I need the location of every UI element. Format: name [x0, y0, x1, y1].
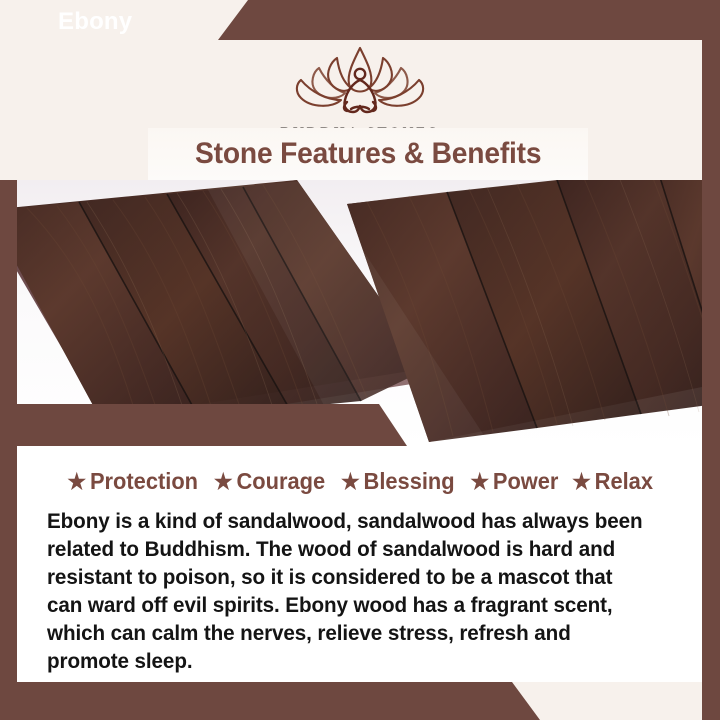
product-description: Ebony is a kind of sandalwood, sandalwoo… [47, 507, 652, 675]
feature-label: Blessing [364, 468, 455, 495]
lotus-meditation-figure-icon [285, 40, 435, 124]
star-icon: ★ [214, 471, 233, 493]
feature-label: Relax [595, 468, 653, 495]
feature-label: Power [492, 468, 558, 495]
feature-list: ★ Protection ★ Courage ★ Blessing ★ Powe… [33, 468, 686, 495]
feature-label: Courage [236, 468, 325, 495]
content-card: ★ Protection ★ Courage ★ Blessing ★ Powe… [17, 448, 702, 682]
feature-item: ★ Courage [214, 468, 325, 495]
star-icon: ★ [67, 471, 86, 493]
page-title: Stone Features & Benefits [195, 137, 541, 171]
star-icon: ★ [573, 471, 592, 493]
feature-item: ★ Power [470, 468, 558, 495]
feature-item: ★ Blessing [341, 468, 455, 495]
feature-label: Protection [89, 468, 197, 495]
infographic-page: BUDDHA STONES Stone Features & Benefits … [0, 0, 720, 720]
page-title-band: Stone Features & Benefits [148, 128, 588, 180]
feature-item: ★ Protection [67, 468, 198, 495]
star-icon: ★ [341, 471, 360, 493]
bottom-decorative-bar [0, 682, 720, 720]
product-name: Ebony [58, 8, 132, 36]
right-decorative-bar [702, 0, 720, 720]
feature-item: ★ Relax [573, 468, 654, 495]
left-decorative-bar [0, 180, 17, 720]
star-icon: ★ [470, 471, 489, 493]
product-name-banner [17, 404, 407, 446]
